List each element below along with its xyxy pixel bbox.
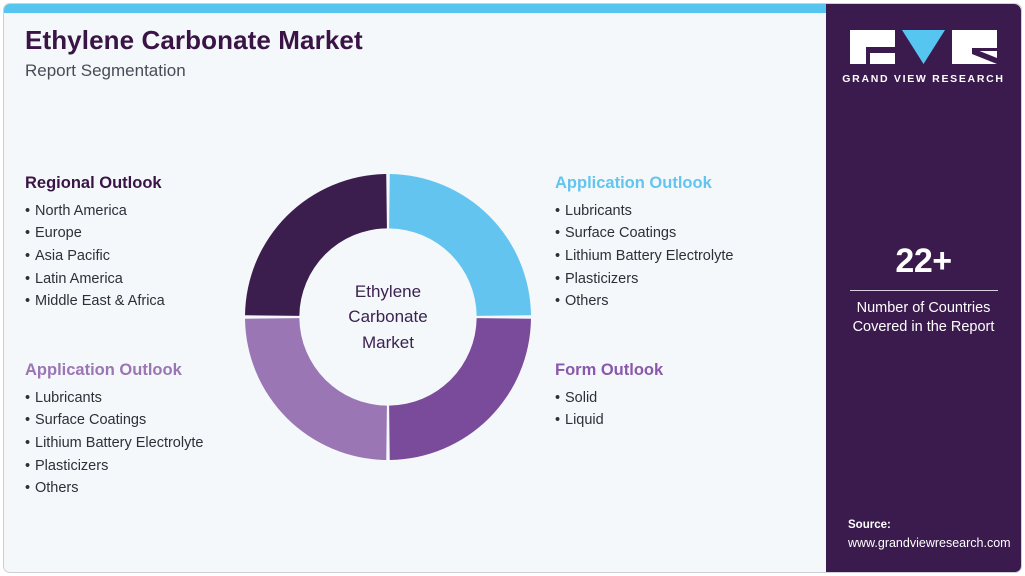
list-item: Solid <box>555 387 663 410</box>
list-item: North America <box>25 200 165 223</box>
list-item: Lubricants <box>555 200 733 223</box>
list-item: Lubricants <box>25 387 203 410</box>
donut-segments <box>245 174 531 460</box>
list-item: Others <box>555 290 733 313</box>
donut-segment <box>245 174 387 316</box>
list-item: Latin America <box>25 268 165 291</box>
application-outlook-title-left: Application Outlook <box>25 361 203 381</box>
logo-wordmark: GRAND VIEW RESEARCH <box>842 73 1004 85</box>
brand-logo: GRAND VIEW RESEARCH <box>826 30 1021 85</box>
donut-chart: Ethylene Carbonate Market <box>245 174 531 460</box>
regional-outlook-block: Regional Outlook North America Europe As… <box>25 174 165 313</box>
list-item: Lithium Battery Electrolyte <box>555 245 733 268</box>
logo-g-icon <box>850 30 895 64</box>
country-count-stat: 22+ Number of Countries Covered in the R… <box>826 244 1021 338</box>
source-label: Source: <box>848 517 1013 534</box>
list-item: Plasticizers <box>25 455 203 478</box>
donut-segment <box>389 174 531 316</box>
list-item: Middle East & Africa <box>25 290 165 313</box>
stat-value: 22+ <box>826 244 1021 280</box>
infographic-card: Ethylene Carbonate Market Report Segment… <box>3 3 1022 573</box>
stat-label-line-1: Number of Countries <box>826 299 1021 319</box>
list-item: Surface Coatings <box>25 409 203 432</box>
sidebar: GRAND VIEW RESEARCH 22+ Number of Countr… <box>826 4 1021 573</box>
stat-divider <box>850 290 998 291</box>
form-outlook-list: Solid Liquid <box>555 387 663 432</box>
donut-chart-svg <box>245 174 531 460</box>
application-outlook-list-right: Lubricants Surface Coatings Lithium Batt… <box>555 200 733 313</box>
list-item: Others <box>25 477 203 500</box>
stat-label-line-2: Covered in the Report <box>826 318 1021 338</box>
page-title: Ethylene Carbonate Market <box>25 26 785 56</box>
logo-marks <box>850 30 997 64</box>
application-outlook-list-left: Lubricants Surface Coatings Lithium Batt… <box>25 387 203 500</box>
list-item: Plasticizers <box>555 268 733 291</box>
infographic-page: Ethylene Carbonate Market Report Segment… <box>0 0 1025 576</box>
source-footer: Source: www.grandviewresearch.com <box>848 517 1013 552</box>
source-url[interactable]: www.grandviewresearch.com <box>848 534 1013 552</box>
list-item: Liquid <box>555 409 663 432</box>
logo-v-icon <box>901 30 946 64</box>
regional-outlook-title: Regional Outlook <box>25 174 165 194</box>
regional-outlook-list: North America Europe Asia Pacific Latin … <box>25 200 165 313</box>
form-outlook-title: Form Outlook <box>555 361 663 381</box>
list-item: Lithium Battery Electrolyte <box>25 432 203 455</box>
header: Ethylene Carbonate Market Report Segment… <box>25 26 785 80</box>
application-outlook-block-left: Application Outlook Lubricants Surface C… <box>25 361 203 500</box>
logo-r-icon <box>952 30 997 64</box>
application-outlook-block-right: Application Outlook Lubricants Surface C… <box>555 174 733 313</box>
top-accent-bar <box>4 4 828 13</box>
list-item: Asia Pacific <box>25 245 165 268</box>
list-item: Surface Coatings <box>555 222 733 245</box>
application-outlook-title-right: Application Outlook <box>555 174 733 194</box>
list-item: Europe <box>25 222 165 245</box>
donut-segment <box>245 318 387 460</box>
form-outlook-block: Form Outlook Solid Liquid <box>555 361 663 432</box>
page-subtitle: Report Segmentation <box>25 61 785 81</box>
donut-segment <box>389 318 531 460</box>
